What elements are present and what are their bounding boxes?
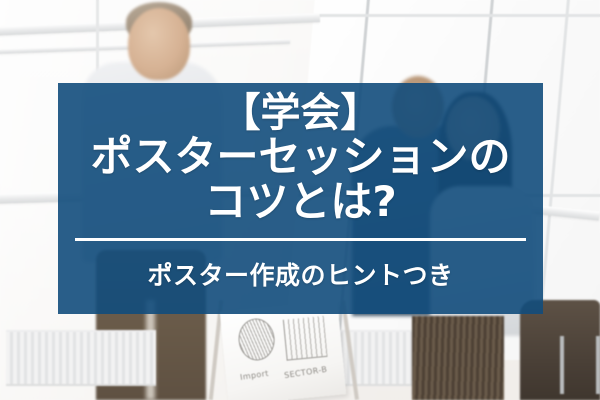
flipchart-label-sector: SECTOR-B (284, 365, 328, 380)
person-background (412, 316, 504, 400)
title-line-1: 【学会】 (221, 92, 381, 135)
title-divider (75, 238, 526, 241)
ceiling-beam (0, 13, 320, 36)
title-overlay-panel: 【学会】 ポスターセッションの コツとは? ポスター作成のヒントつき (58, 83, 543, 314)
flipchart-label-import: Import (240, 369, 270, 382)
banner-subtitle: ポスター作成のヒントつき (147, 256, 453, 292)
easel-leg (209, 300, 223, 400)
chair-leg (560, 336, 564, 394)
chair (520, 300, 600, 400)
title-line-3: コツとは? (204, 180, 396, 225)
blog-header-banner: Import SECTOR-B 【学会】 ポスターセッションの コツとは? ポス… (0, 0, 600, 400)
person-foreground-head (128, 8, 190, 80)
ceiling-beam (0, 39, 290, 54)
flipchart-easel: Import SECTOR-B (220, 301, 346, 400)
title-line-2: ポスターセッションの (90, 135, 510, 180)
easel-leg (341, 300, 359, 400)
radiator (6, 330, 156, 386)
person-foreground-leg-gap (146, 300, 155, 400)
person-foreground-hair (126, 2, 192, 42)
chair-leg (596, 336, 600, 394)
pie-chart-doodle-icon (237, 317, 277, 362)
radiator (336, 330, 456, 386)
bar-chart-doodle-icon (283, 316, 328, 361)
